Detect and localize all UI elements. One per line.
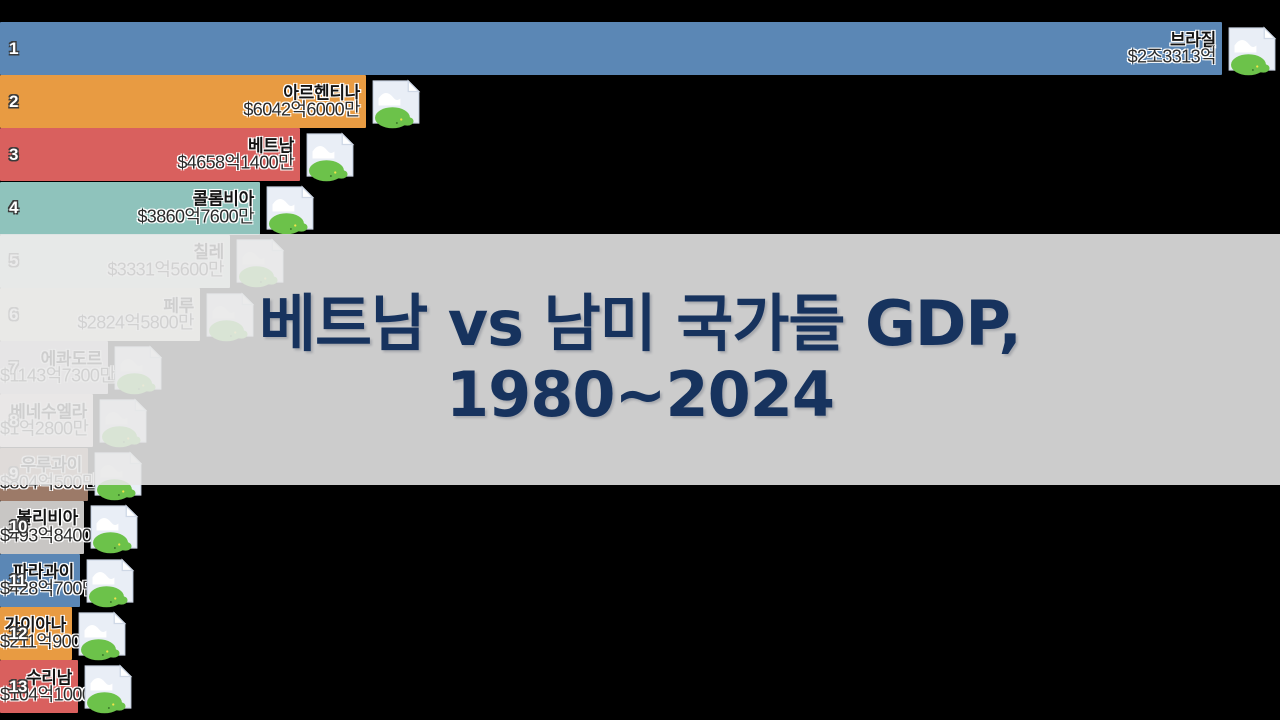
bar-country-name: 브라질 [0, 31, 1216, 49]
bar-value-label: $4658억1400만 [0, 154, 294, 173]
bar-value-label: $2조3313억 [0, 47, 1216, 66]
bar-row[interactable]: 11파라과이$428억700만 [0, 554, 1280, 607]
bar-labels: 아르헨티나$6042억6000만 [0, 84, 360, 119]
title-overlay: 베트남 vs 남미 국가들 GDP, 1980~2024 [0, 234, 1280, 485]
bar-chart-race-stage: 1브라질$2조3313억2아르헨티나$6042억6000만3베트남$4658억1… [0, 0, 1280, 720]
bar-rank-label: 11 [9, 571, 26, 591]
title-line-2: 1980~2024 [446, 362, 834, 429]
bar-rank-label: 13 [9, 677, 27, 697]
bar-rank-label: 3 [9, 145, 18, 165]
bar-rank-label: 10 [9, 517, 27, 537]
bar-country-name: 베트남 [0, 137, 294, 155]
bar-row[interactable]: 13수리남$104억1000만 [0, 660, 1280, 713]
bar-row[interactable]: 1브라질$2조3313억 [0, 22, 1280, 75]
bar-country-name: 아르헨티나 [0, 84, 360, 102]
broken-image-icon [1224, 21, 1280, 77]
bar-country-name: 콜롬비아 [0, 191, 254, 209]
broken-image-icon [80, 659, 136, 715]
bar-value-label: $3860억7600만 [0, 207, 254, 226]
bar-rank-label: 2 [9, 92, 18, 112]
broken-image-icon [74, 606, 130, 662]
broken-image-icon [82, 553, 138, 609]
bar-row[interactable]: 2아르헨티나$6042억6000만 [0, 75, 1280, 128]
bar-value-label: $6042억6000만 [0, 101, 360, 120]
bar-rank-label: 1 [9, 39, 18, 59]
broken-image-icon [368, 74, 424, 130]
bar-rank-label: 4 [9, 198, 18, 218]
bar-row[interactable]: 10볼리비아$493억8400만 [0, 501, 1280, 554]
bar-row[interactable]: 3베트남$4658억1400만 [0, 128, 1280, 181]
bar-labels: 콜롬비아$3860억7600만 [0, 191, 254, 226]
bar-rank-label: 12 [9, 624, 27, 644]
bar-labels: 베트남$4658억1400만 [0, 137, 294, 172]
broken-image-icon [262, 180, 318, 236]
title-line-1: 베트남 vs 남미 국가들 GDP, [259, 291, 1021, 358]
bar-row[interactable]: 12가이아나$211억9000만 [0, 607, 1280, 660]
bar-row[interactable]: 4콜롬비아$3860억7600만 [0, 182, 1280, 235]
bar-labels: 브라질$2조3313억 [0, 31, 1216, 66]
broken-image-icon [86, 499, 142, 555]
broken-image-icon [302, 127, 358, 183]
